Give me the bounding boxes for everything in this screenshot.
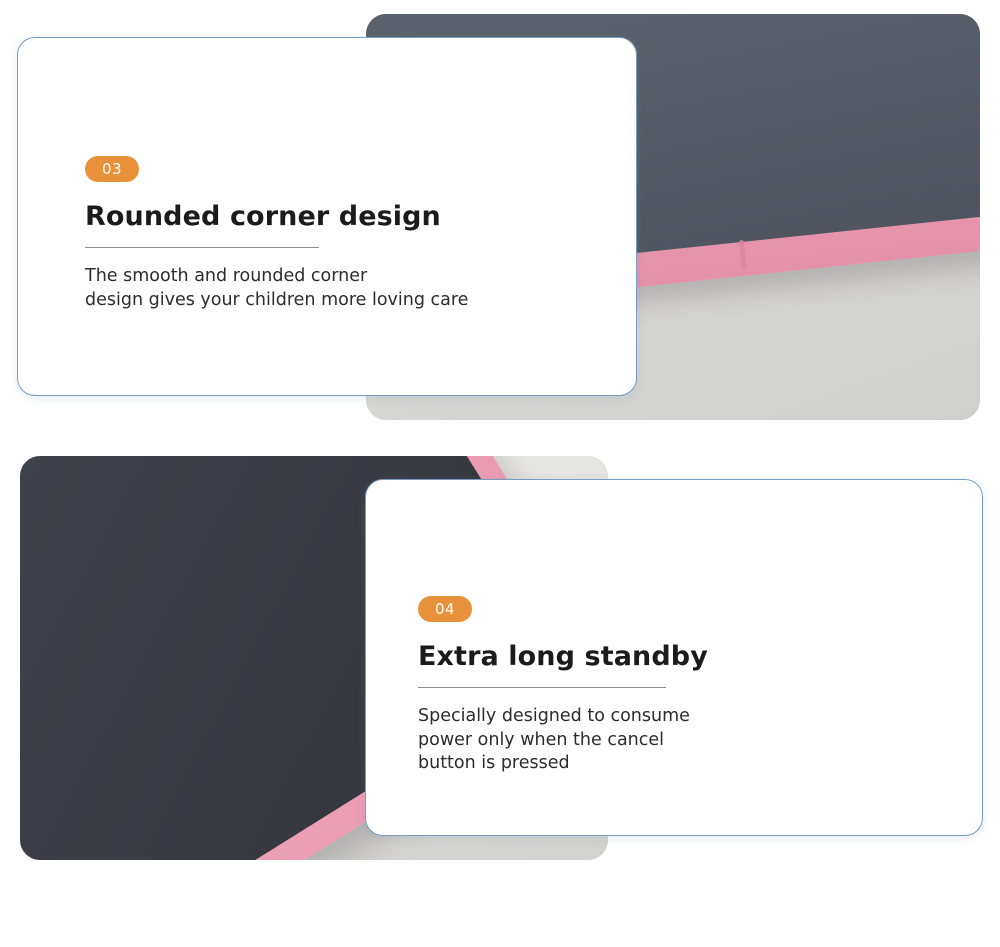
- feature-body-04-line-2: power only when the cancel: [418, 729, 938, 753]
- feature-body-04-line-3: button is pressed: [418, 752, 938, 776]
- feature-body-03-line-1: The smooth and rounded corner: [85, 265, 585, 289]
- feature-title-03: Rounded corner design: [85, 201, 585, 232]
- badge-number-03: 03: [85, 156, 139, 182]
- feature-body-04: Specially designed to consume power only…: [418, 705, 938, 776]
- feature-card-04: 04 Extra long standby Specially designed…: [365, 479, 983, 836]
- product-feature-page: 03 Rounded corner design The smooth and …: [0, 0, 1000, 947]
- feature-body-04-line-1: Specially designed to consume: [418, 705, 938, 729]
- title-divider-04: [418, 687, 666, 688]
- feature-card-03: 03 Rounded corner design The smooth and …: [17, 37, 637, 396]
- feature-card-03-content: 03 Rounded corner design The smooth and …: [85, 156, 585, 312]
- badge-number-04: 04: [418, 596, 472, 622]
- feature-title-04: Extra long standby: [418, 641, 938, 672]
- title-divider-03: [85, 247, 319, 248]
- feature-card-04-content: 04 Extra long standby Specially designed…: [418, 596, 938, 776]
- feature-body-03: The smooth and rounded corner design giv…: [85, 265, 585, 312]
- feature-body-03-line-2: design gives your children more loving c…: [85, 289, 585, 313]
